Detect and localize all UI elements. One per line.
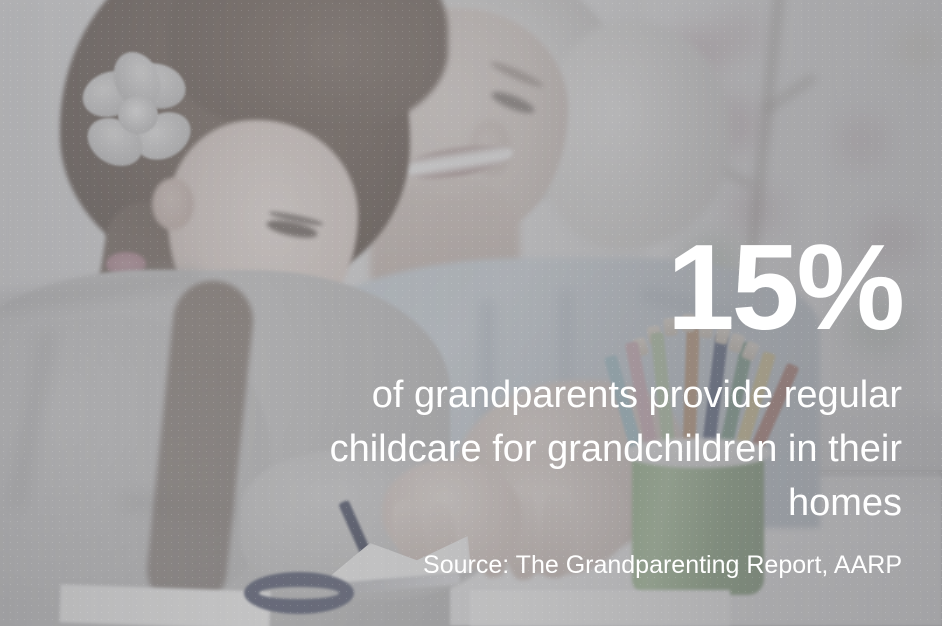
stat-body-line-3: homes xyxy=(172,476,902,530)
stat-number: 15% xyxy=(667,226,902,348)
paper-sheet xyxy=(470,590,730,626)
girl-hair-top xyxy=(168,0,448,130)
stat-body-line-2: childcare for grandchildren in their xyxy=(172,422,902,476)
scissors-handle xyxy=(244,572,354,614)
stat-body-line-1: of grandparents provide regular xyxy=(172,368,902,422)
paper-sheet xyxy=(59,584,270,626)
source-attribution: Source: The Grandparenting Report, AARP xyxy=(423,551,902,580)
wall-stripe xyxy=(14,0,40,330)
blossom xyxy=(836,116,888,166)
blossom xyxy=(716,14,762,58)
stat-body-text: of grandparents provide regular childcar… xyxy=(172,368,902,530)
flower-hair-clip xyxy=(82,62,194,170)
girl-ear xyxy=(152,178,194,230)
statistic-graphic: 15% of grandparents provide regular chil… xyxy=(0,0,942,626)
blossom xyxy=(896,28,940,68)
flower-center xyxy=(118,96,158,134)
